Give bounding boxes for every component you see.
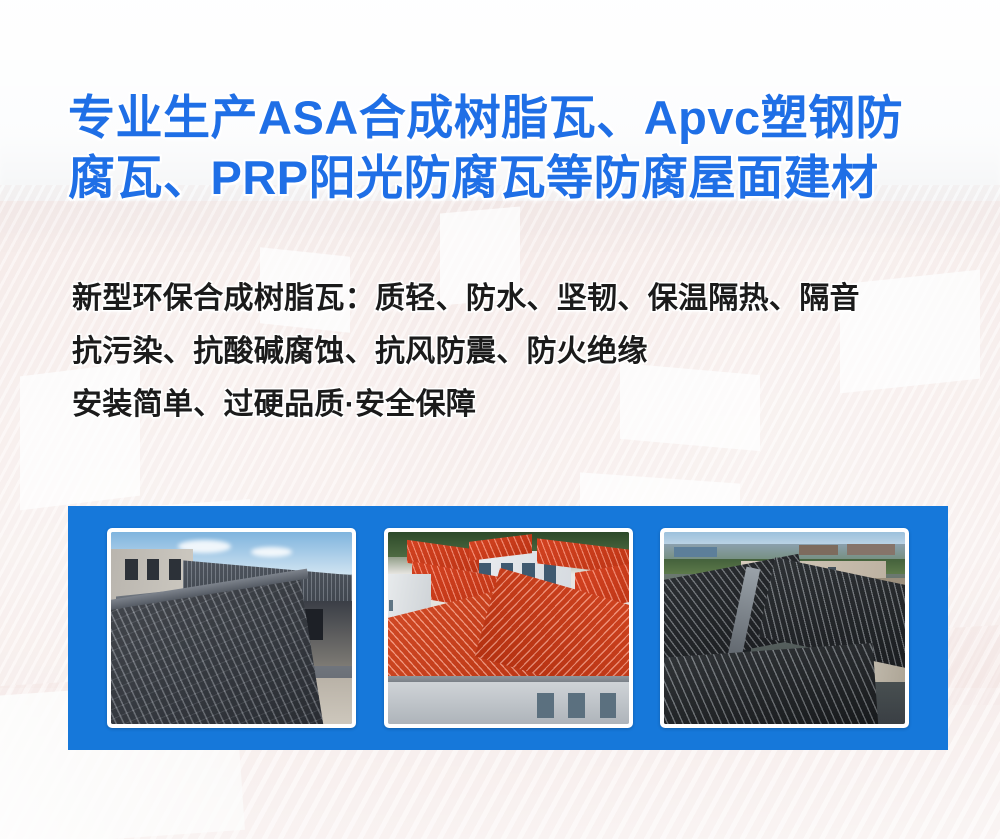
photo1-window [125, 559, 137, 580]
photo-frame-2[interactable] [384, 528, 633, 728]
headline: 专业生产ASA合成树脂瓦、Apvc塑钢防 腐瓦、PRP阳光防腐瓦等防腐屋面建材 [68, 88, 948, 208]
photo1-window [169, 559, 181, 580]
subtitle-line-2: 抗污染、抗酸碱腐蚀、抗风防震、防火绝缘 [72, 325, 962, 378]
photo2-window [389, 600, 393, 611]
banner-content: 专业生产ASA合成树脂瓦、Apvc塑钢防 腐瓦、PRP阳光防腐瓦等防腐屋面建材 … [0, 0, 1000, 839]
headline-line-2: 腐瓦、PRP阳光防腐瓦等防腐屋面建材 [68, 148, 948, 208]
gray-resin-tile-roof-photo [111, 532, 352, 724]
red-resin-tile-roof-photo [388, 532, 629, 724]
photo3-distant-building [799, 545, 838, 555]
photo3-foreground-black-roof [664, 643, 879, 724]
photo3-distant-building [847, 544, 895, 556]
headline-line-1: 专业生产ASA合成树脂瓦、Apvc塑钢防 [68, 88, 948, 148]
photo1-window [147, 559, 159, 580]
product-promo-banner: 专业生产ASA合成树脂瓦、Apvc塑钢防 腐瓦、PRP阳光防腐瓦等防腐屋面建材 … [0, 0, 1000, 839]
black-resin-tile-roof-photo [664, 532, 905, 724]
photo1-cloud [251, 547, 292, 557]
photo-frame-1[interactable] [107, 528, 356, 728]
photo2-window [568, 693, 585, 718]
photo2-front-wall [388, 682, 629, 724]
subtitle-block: 新型环保合成树脂瓦：质轻、防水、坚韧、保温隔热、隔音 抗污染、抗酸碱腐蚀、抗风防… [72, 272, 962, 431]
photo3-distant-building [674, 547, 717, 557]
photo-frame-3[interactable] [660, 528, 909, 728]
photo-gallery-panel [68, 506, 948, 750]
subtitle-line-3: 安装简单、过硬品质·安全保障 [72, 378, 962, 431]
subtitle-line-1: 新型环保合成树脂瓦：质轻、防水、坚韧、保温隔热、隔音 [72, 272, 962, 325]
photo2-window [600, 693, 617, 718]
photo2-window [537, 693, 554, 718]
